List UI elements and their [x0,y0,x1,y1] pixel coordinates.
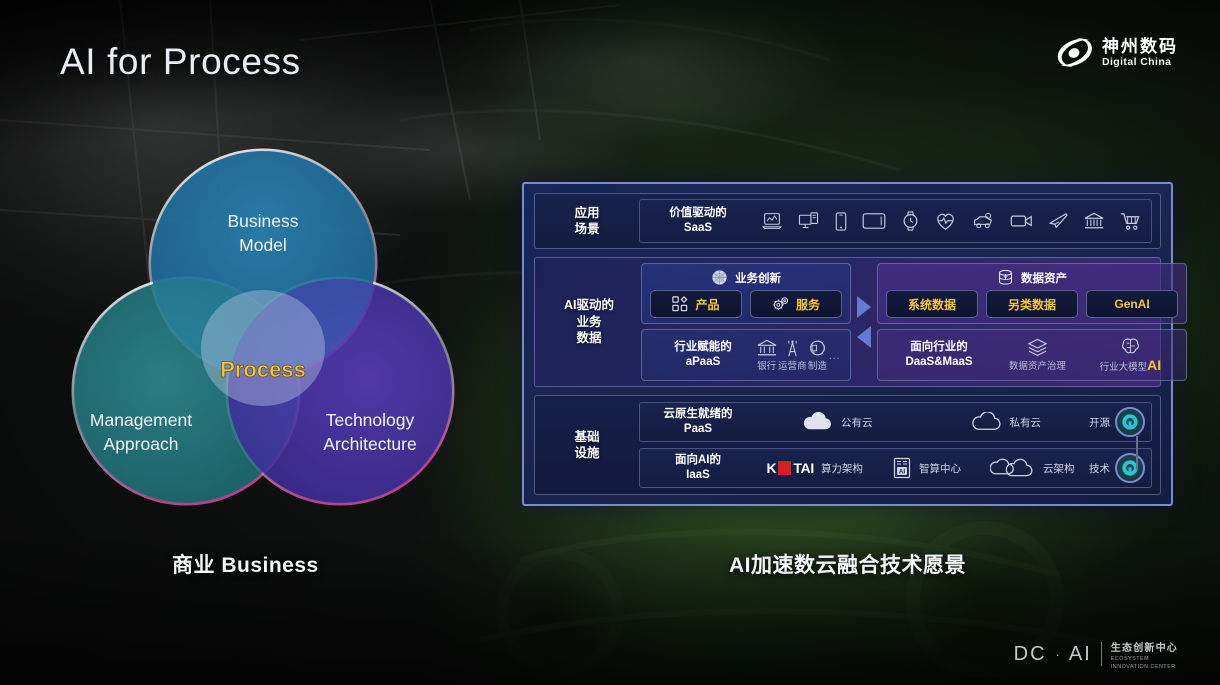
chip-label: 系统数据 [908,296,956,313]
business-innovation-head: 业务创新 [650,269,842,286]
smartwatch-icon [902,211,919,231]
caption-right: AI加速数云融合技术愿景 [729,549,966,579]
band-body-application: 价值驱动的 SaaS [639,199,1152,243]
chip-label: 产品 [695,296,719,313]
footer-dot: · [1056,647,1060,662]
iaas-item-ai-center: AI 智算中心 [892,457,961,479]
band-application-scenarios: 应用 场景 价值驱动的 SaaS [534,193,1161,249]
footer-en2: INNOVATION CENTER [1111,665,1178,671]
apaas-title-line: aPaaS [650,355,756,370]
band-divider [851,263,877,381]
desktop-pos-icon [798,212,819,230]
daas-maas-title: 面向行业的 DaaS&MaaS [886,340,992,370]
apaas-item-label: 制造 [808,358,827,372]
band-label-ai-data: AI驱动的 业务 数据 [541,263,637,381]
daas-item-label: 数据资产治理 [1009,358,1066,372]
daas-item-label-text: 行业大模型 [1100,362,1148,373]
paas-item-label: 私有云 [1010,415,1042,430]
venn-label-business-line2: Model [239,235,287,255]
chip-system-data[interactable]: 系统数据 [886,290,978,318]
brand-name-cn: 神州数码 [1102,38,1178,56]
business-innovation-title: 业务创新 [735,270,781,286]
iaas-item-label: 云架构 [1043,461,1075,476]
paas-item-private-cloud: 私有云 [969,412,1042,432]
band-label-line: 基础 [574,429,599,446]
paas-badge-label: 开源 [1089,415,1110,430]
band-label-application: 应用 场景 [539,205,635,238]
cloud-outline-icon [969,412,1003,432]
shopping-cart-icon [1120,212,1141,231]
iaas-title: 面向AI的 IaaS [644,453,752,483]
paas-title-line: 云原生就绪的 [644,407,752,422]
iaas-title-line: IaaS [644,468,752,483]
daas-maas-items: 数据资产治理 行业大模型AI [992,337,1178,373]
footer-divider [1101,642,1102,666]
svg-text:AI: AI [899,469,906,476]
iaas-item-compute: K TAI 算力架构 [767,460,863,476]
data-asset-chips: 系统数据 另类数据 GenAI [886,290,1178,318]
opensource-ring-icon [1115,407,1145,437]
chip-label: 另类数据 [1008,296,1056,313]
data-asset-column: 数据资产 系统数据 另类数据 GenAI [877,263,1187,381]
venn-label-management-line1: Management [90,410,192,430]
slide-root: AI for Process 神州数码 Digital China [0,0,1220,685]
double-arrow-icon [853,290,875,354]
daas-item-label: 行业大模型AI [1100,357,1162,373]
kutai-brand-tail: TAI [793,460,814,476]
ellipsis-icon: … [828,348,841,362]
paas-title-line: PaaS [644,422,752,437]
data-asset-head: 数据资产 [886,269,1178,286]
database-icon [997,269,1014,286]
band-label-line: AI驱动的 [564,297,614,314]
factory-gear-icon [808,339,827,357]
apaas-item-label: 运营商 [778,358,807,372]
band-label-line: 设施 [574,445,599,462]
airplane-icon [1048,212,1068,230]
gears-icon [772,296,789,312]
daas-maas-title-line: 面向行业的 [886,340,992,355]
footer-ai: AI [1069,643,1092,666]
data-asset-box[interactable]: 数据资产 系统数据 另类数据 GenAI [877,263,1187,324]
sphere-cluster-icon [711,269,728,286]
daas-item-industry-model: 行业大模型AI [1100,337,1162,373]
tablet-icon [862,212,886,230]
footer-text: 生态创新中心 ECOSYSTEM INNOVATION CENTER [1111,638,1178,671]
band-label-infrastructure: 基础 设施 [539,402,635,488]
layers-icon [1027,338,1048,357]
apaas-title: 行业赋能的 aPaaS [650,340,756,370]
venn-label-process: Process [220,357,306,382]
car-icon [972,212,994,230]
saas-title-line: 价值驱动的 [646,206,750,221]
business-innovation-box[interactable]: 业务创新 产品 [641,263,851,324]
iaas-badge-label: 技术 [1089,461,1110,476]
iaas-items: K TAI 算力架构 [752,457,1089,479]
chip-label: 服务 [796,296,820,313]
brand-name-en: Digital China [1102,57,1178,68]
data-asset-title: 数据资产 [1021,270,1067,286]
infrastructure-rows: 云原生就绪的 PaaS 公有云 [639,402,1152,488]
heartbeat-icon [935,212,956,231]
chip-product[interactable]: 产品 [650,290,742,318]
business-innovation-chips: 产品 [650,290,842,318]
bank-icon [757,339,777,357]
saas-box[interactable]: 价值驱动的 SaaS [639,199,1152,243]
iaas-row[interactable]: 面向AI的 IaaS K TAI 算力架构 [639,448,1152,488]
band-infrastructure: 基础 设施 云原生就绪的 PaaS [534,395,1161,495]
daas-maas-title-line: DaaS&MaaS [886,355,992,370]
saas-title-line: SaaS [646,221,750,236]
apaas-item-bank: 银行 [757,339,777,372]
laptop-icon [762,212,782,230]
caption-left: 商业 Business [172,549,319,579]
band-label-line: 场景 [574,221,599,238]
page-title: AI for Process [60,41,301,83]
apaas-items: 银行 运营商 [756,339,842,372]
venn-label-business-line1: Business [227,211,298,231]
kutai-brand-head: K [767,460,777,476]
iaas-title-line: 面向AI的 [644,453,752,468]
smartphone-icon [835,212,847,231]
paas-items: 公有云 私有云 [752,412,1089,432]
tech-ring-icon [1115,453,1145,483]
band-label-line: 应用 [574,205,599,222]
scenario-icon-strip [756,211,1141,231]
multi-cloud-icon [990,457,1036,479]
apaas-title-line: 行业赋能的 [650,340,756,355]
venn-label-technology-line1: Technology [326,410,415,430]
apaas-row[interactable]: 行业赋能的 aPaaS 银行 [641,329,851,381]
chip-genai[interactable]: GenAI [1086,290,1178,318]
brain-icon [1120,337,1141,356]
brand-logo: 神州数码 Digital China [1055,36,1178,70]
chip-label: GenAI [1114,297,1149,311]
venn-diagram: Business Model Management Approach Techn… [58,148,468,508]
band-label-line: 数据 [576,330,601,347]
antenna-tower-icon [783,339,802,357]
iaas-item-cloud-arch: 云架构 [990,457,1075,479]
paas-badge[interactable]: 开源 [1089,407,1145,437]
daas-item-label-accent: AI [1147,357,1161,373]
paas-row[interactable]: 云原生就绪的 PaaS 公有云 [639,402,1152,442]
badge-connector-line [1136,436,1138,470]
apaas-item-carrier: 运营商 [778,339,807,372]
kutai-logo-icon: K TAI [767,460,814,476]
kutai-block [778,461,791,475]
swirl-logo-icon [1055,36,1093,70]
band-ai-driven-business-data: AI驱动的 业务 数据 [534,257,1161,387]
business-innovation-column: 业务创新 产品 [641,263,851,381]
apaas-item-label: 银行 [757,358,776,372]
cloud-filled-icon [800,412,834,432]
bank-icon [1084,212,1104,230]
paas-item-label: 公有云 [841,415,873,430]
footer-logo: DC · AI 生态创新中心 ECOSYSTEM INNOVATION CENT… [1014,638,1178,671]
apaas-item-manufacturing: 制造 [808,339,827,372]
iaas-item-label: 智算中心 [919,461,961,476]
band-body-infrastructure: 云原生就绪的 PaaS 公有云 [639,402,1152,488]
band-body-ai-data: 业务创新 产品 [641,263,1187,381]
band-label-line: 业务 [576,314,601,331]
venn-label-technology-line2: Architecture [323,434,416,454]
tech-vision-panel: 应用 场景 价值驱动的 SaaS [522,182,1173,506]
footer-en1: ECOSYSTEM [1111,657,1178,663]
video-camera-icon [1010,213,1033,229]
paas-item-public-cloud: 公有云 [800,412,873,432]
footer-cn: 生态创新中心 [1111,643,1178,654]
ai-server-icon: AI [892,457,912,479]
daas-item-governance: 数据资产治理 [1009,338,1066,372]
shapes-icon [672,296,688,312]
iaas-item-label: 算力架构 [821,461,863,476]
venn-label-management-line2: Approach [104,434,179,454]
footer-dc: DC [1014,643,1047,666]
daas-maas-row[interactable]: 面向行业的 DaaS&MaaS 数据资产治理 [877,329,1187,381]
paas-title: 云原生就绪的 PaaS [644,407,752,437]
saas-title: 价值驱动的 SaaS [646,206,750,235]
chip-service[interactable]: 服务 [750,290,842,318]
chip-alternative-data[interactable]: 另类数据 [986,290,1078,318]
